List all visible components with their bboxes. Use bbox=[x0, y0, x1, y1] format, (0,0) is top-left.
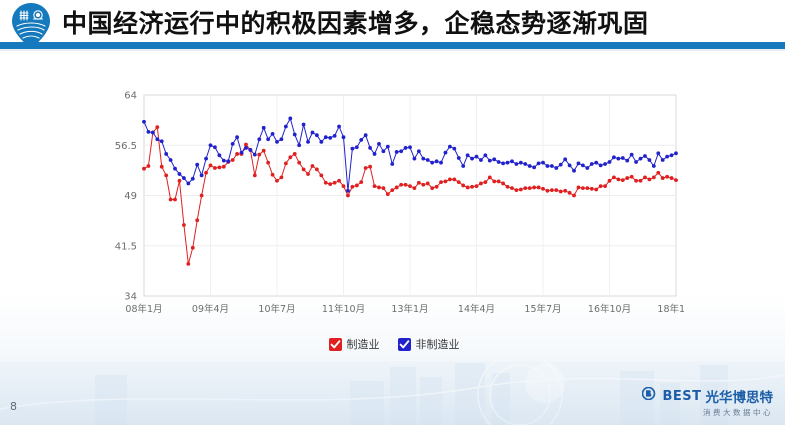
svg-text:08年1月: 08年1月 bbox=[125, 303, 162, 315]
legend-label-manufacturing: 制造业 bbox=[347, 336, 380, 352]
svg-text:11年10月: 11年10月 bbox=[322, 303, 365, 315]
svg-text:18年1月: 18年1月 bbox=[657, 303, 684, 315]
svg-text:34: 34 bbox=[124, 292, 137, 303]
title-divider bbox=[0, 42, 785, 49]
brand-logo: BEST 光华博思特 消费大数据中心 bbox=[642, 386, 773, 418]
slide: 中国经济运行中的积极因素增多，企稳态势逐渐巩固 3441.54956.56408… bbox=[0, 0, 785, 425]
svg-text:16年10月: 16年10月 bbox=[588, 303, 631, 315]
chart-canvas: 3441.54956.56408年1月09年4月10年7月11年10月13年1月… bbox=[104, 87, 684, 322]
legend-label-non-manufacturing: 非制造业 bbox=[416, 336, 460, 352]
svg-text:64: 64 bbox=[124, 91, 137, 102]
checkbox-checked-icon[interactable] bbox=[398, 338, 411, 351]
legend-item-manufacturing[interactable]: 制造业 bbox=[329, 336, 380, 352]
slide-header: 中国经济运行中的积极因素增多，企稳态势逐渐巩固 bbox=[0, 0, 785, 52]
page-title: 中国经济运行中的积极因素增多，企稳态势逐渐巩固 bbox=[62, 4, 649, 40]
chart-legend: 制造业 非制造业 bbox=[104, 334, 684, 354]
svg-text:41.5: 41.5 bbox=[115, 241, 137, 252]
slide-body: 3441.54956.56408年1月09年4月10年7月11年10月13年1月… bbox=[0, 51, 785, 361]
best-mark-icon bbox=[642, 387, 658, 405]
brand-mark-text: BEST bbox=[662, 389, 701, 404]
brand-name: 光华博思特 bbox=[706, 386, 774, 406]
svg-text:09年4月: 09年4月 bbox=[192, 303, 229, 315]
pmi-line-chart: 3441.54956.56408年1月09年4月10年7月11年10月13年1月… bbox=[104, 87, 684, 322]
svg-text:10年7月: 10年7月 bbox=[258, 303, 295, 315]
svg-text:15年7月: 15年7月 bbox=[524, 303, 561, 315]
svg-text:14年4月: 14年4月 bbox=[458, 303, 495, 315]
page-number: 8 bbox=[10, 400, 17, 413]
legend-item-non-manufacturing[interactable]: 非制造业 bbox=[398, 336, 460, 352]
svg-text:49: 49 bbox=[124, 191, 137, 202]
brand-subtitle: 消费大数据中心 bbox=[642, 407, 773, 418]
checkbox-checked-icon[interactable] bbox=[329, 338, 342, 351]
svg-text:56.5: 56.5 bbox=[115, 141, 137, 152]
svg-text:13年1月: 13年1月 bbox=[391, 303, 428, 315]
